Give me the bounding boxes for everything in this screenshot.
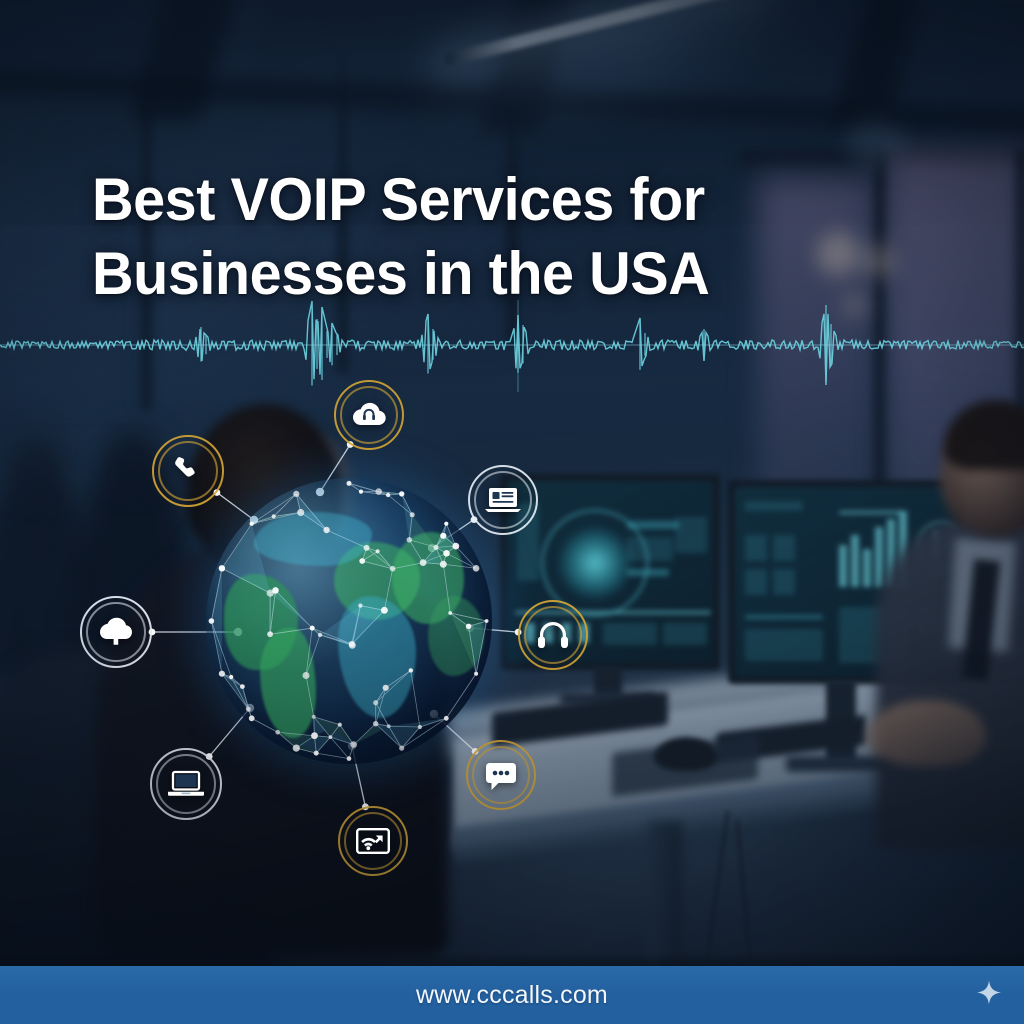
website-url[interactable]: www.cccalls.com — [416, 981, 608, 1010]
audio-waveform — [0, 300, 1024, 392]
sparkle-icon — [976, 980, 1002, 1011]
title-line-1: Best VOIP Services for — [92, 163, 822, 237]
mouse — [654, 737, 718, 771]
cloud-upload-icon-glyph — [96, 616, 136, 648]
cloud-headset-icon-glyph — [350, 399, 388, 431]
wifi-screen-icon-glyph — [355, 826, 391, 856]
wifi-screen-icon[interactable] — [338, 806, 408, 876]
hero-graphic: Best VOIP Services for Businesses in the… — [0, 0, 1024, 1024]
headphones-icon[interactable] — [518, 600, 588, 670]
cloud-headset-icon[interactable] — [334, 380, 404, 450]
chat-bubble-icon-glyph — [483, 759, 519, 791]
phone-icon-glyph — [171, 454, 205, 488]
headphones-icon-glyph — [535, 619, 571, 651]
page-title: Best VOIP Services for Businesses in the… — [92, 163, 822, 311]
chat-bubble-icon[interactable] — [466, 740, 536, 810]
monitor-document-icon-glyph — [484, 484, 522, 516]
cloud-upload-icon[interactable] — [80, 596, 152, 668]
footer-bar: www.cccalls.com — [0, 966, 1024, 1024]
network-globe — [206, 478, 492, 764]
phone-icon[interactable] — [152, 435, 224, 507]
footer-shadow — [0, 952, 1024, 966]
title-line-2: Businesses in the USA — [92, 237, 822, 311]
laptop-icon[interactable] — [150, 748, 222, 820]
monitor-document-icon[interactable] — [468, 465, 538, 535]
laptop-icon-glyph — [166, 769, 206, 799]
